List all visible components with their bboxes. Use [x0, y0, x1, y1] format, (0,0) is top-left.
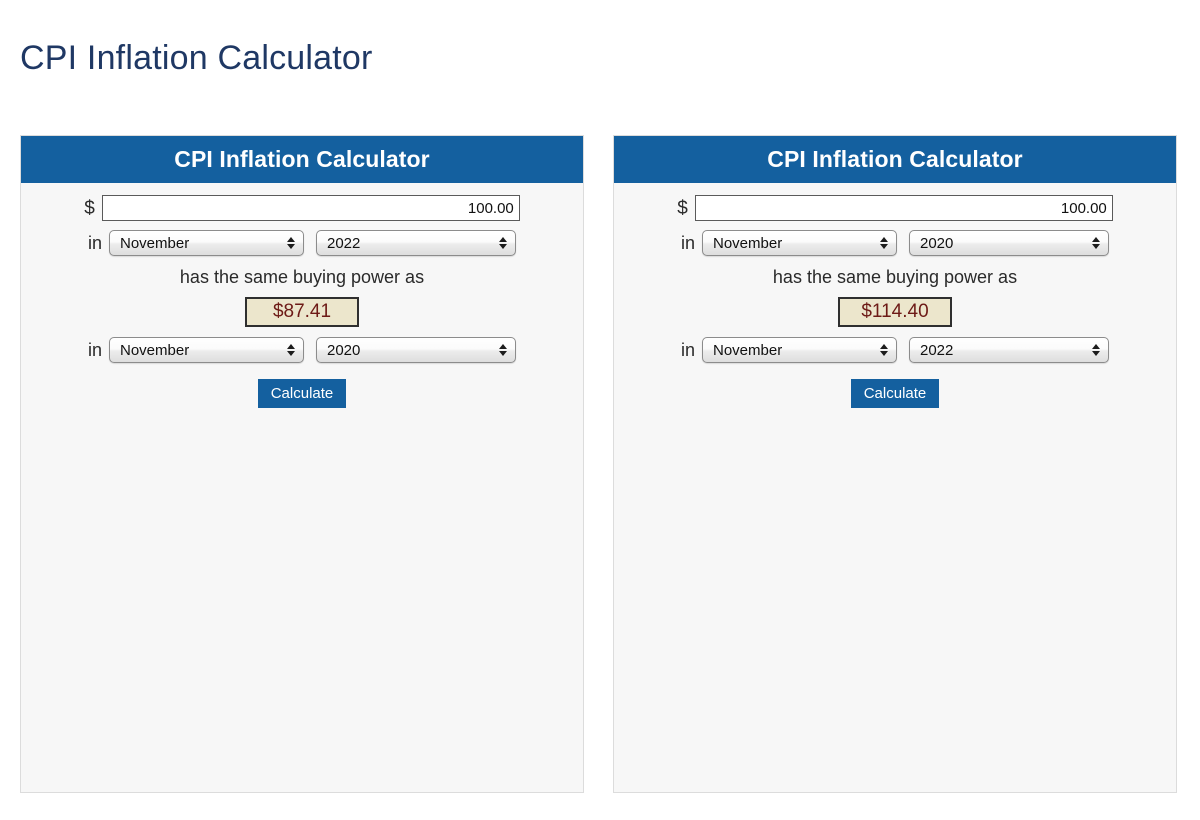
from-month-select-left[interactable]: November — [109, 230, 304, 256]
calculate-button-left[interactable]: Calculate — [258, 379, 347, 408]
to-year-value-left: 2020 — [327, 342, 360, 359]
to-year-value-right: 2022 — [920, 342, 953, 359]
page-title: CPI Inflation Calculator — [20, 37, 373, 79]
to-in-label-right: in — [681, 341, 695, 359]
calculator-panel-right: CPI Inflation Calculator $ in November 2… — [613, 135, 1177, 793]
to-month-select-right[interactable]: November — [702, 337, 897, 363]
calculator-panels: CPI Inflation Calculator $ in November 2… — [0, 135, 1200, 797]
panel-body-left: $ in November 2022 has the same buying p… — [21, 183, 583, 408]
from-in-label-left: in — [88, 234, 102, 252]
from-month-value-right: November — [713, 235, 782, 252]
calculate-wrap-right: Calculate — [614, 379, 1176, 408]
stepper-arrows-icon — [1092, 237, 1100, 249]
from-month-select-right[interactable]: November — [702, 230, 897, 256]
to-month-value-left: November — [120, 342, 189, 359]
from-month-value-left: November — [120, 235, 189, 252]
stepper-arrows-icon — [1092, 344, 1100, 356]
stepper-arrows-icon — [499, 237, 507, 249]
stepper-arrows-icon — [287, 344, 295, 356]
amount-input-right[interactable] — [695, 195, 1113, 221]
amount-row-left: $ — [21, 195, 583, 221]
panel-header-right: CPI Inflation Calculator — [614, 136, 1176, 183]
calculator-panel-left: CPI Inflation Calculator $ in November 2… — [20, 135, 584, 793]
dollar-sign-label-left: $ — [84, 199, 95, 218]
calculate-wrap-left: Calculate — [21, 379, 583, 408]
result-value-right: $114.40 — [838, 297, 952, 327]
panel-body-right: $ in November 2020 has the same buying p… — [614, 183, 1176, 408]
from-date-row-left: in November 2022 — [21, 230, 583, 256]
to-month-select-left[interactable]: November — [109, 337, 304, 363]
from-year-select-left[interactable]: 2022 — [316, 230, 516, 256]
to-year-select-left[interactable]: 2020 — [316, 337, 516, 363]
calculate-button-right[interactable]: Calculate — [851, 379, 940, 408]
from-in-label-right: in — [681, 234, 695, 252]
result-wrap-left: $87.41 — [21, 297, 583, 327]
panel-header-left: CPI Inflation Calculator — [21, 136, 583, 183]
amount-input-left[interactable] — [102, 195, 520, 221]
to-year-select-right[interactable]: 2022 — [909, 337, 1109, 363]
stepper-arrows-icon — [880, 237, 888, 249]
result-value-left: $87.41 — [245, 297, 359, 327]
result-wrap-right: $114.40 — [614, 297, 1176, 327]
from-date-row-right: in November 2020 — [614, 230, 1176, 256]
from-year-select-right[interactable]: 2020 — [909, 230, 1109, 256]
stepper-arrows-icon — [287, 237, 295, 249]
amount-row-right: $ — [614, 195, 1176, 221]
from-year-value-left: 2022 — [327, 235, 360, 252]
stepper-arrows-icon — [880, 344, 888, 356]
to-date-row-right: in November 2022 — [614, 337, 1176, 363]
from-year-value-right: 2020 — [920, 235, 953, 252]
buying-power-text-right: has the same buying power as — [614, 267, 1176, 288]
to-month-value-right: November — [713, 342, 782, 359]
dollar-sign-label-right: $ — [677, 199, 688, 218]
buying-power-text-left: has the same buying power as — [21, 267, 583, 288]
to-date-row-left: in November 2020 — [21, 337, 583, 363]
to-in-label-left: in — [88, 341, 102, 359]
stepper-arrows-icon — [499, 344, 507, 356]
